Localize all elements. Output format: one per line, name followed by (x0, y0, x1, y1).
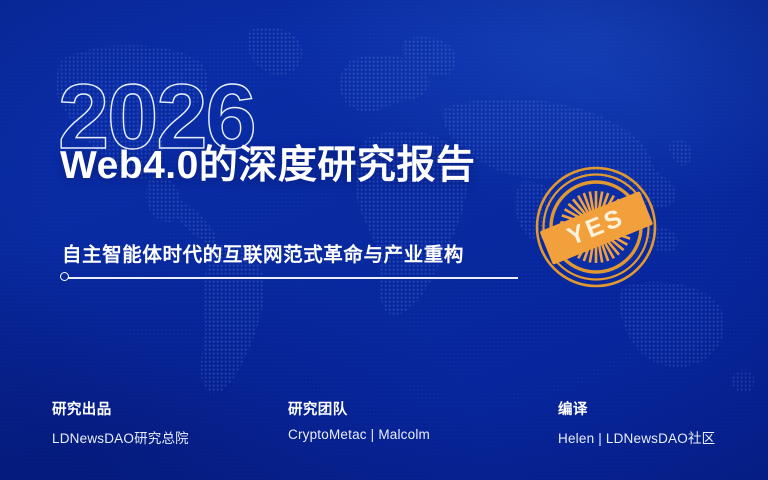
divider-rule (68, 277, 518, 279)
credit-value: CryptoMetac | Malcolm (288, 427, 558, 442)
credit-column-team: 研究团队 CryptoMetac | Malcolm (288, 398, 558, 447)
page-subtitle: 自主智能体时代的互联网范式革命与产业重构 (62, 238, 464, 267)
divider (60, 272, 518, 283)
credit-label: 编译 (558, 398, 748, 419)
credit-label: 研究团队 (288, 398, 558, 419)
credit-column-translation: 编译 Helen | LDNewsDAO社区 (558, 398, 748, 447)
credit-label: 研究出品 (52, 398, 288, 419)
yes-seal-badge-icon: YES (532, 163, 660, 291)
credit-value: Helen | LDNewsDAO社区 (558, 427, 748, 447)
footer-credits: 研究出品 LDNewsDAO研究总院 研究团队 CryptoMetac | Ma… (52, 398, 752, 447)
presentation-cover-slide: 2026 Web4.0的深度研究报告 自主智能体时代的互联网范式革命与产业重构 (0, 0, 768, 480)
credit-column-production: 研究出品 LDNewsDAO研究总院 (52, 398, 288, 447)
headline-block: Web4.0的深度研究报告 自主智能体时代的互联网范式革命与产业重构 (60, 144, 580, 188)
page-title: Web4.0的深度研究报告 (60, 144, 580, 188)
credit-value: LDNewsDAO研究总院 (52, 427, 288, 447)
